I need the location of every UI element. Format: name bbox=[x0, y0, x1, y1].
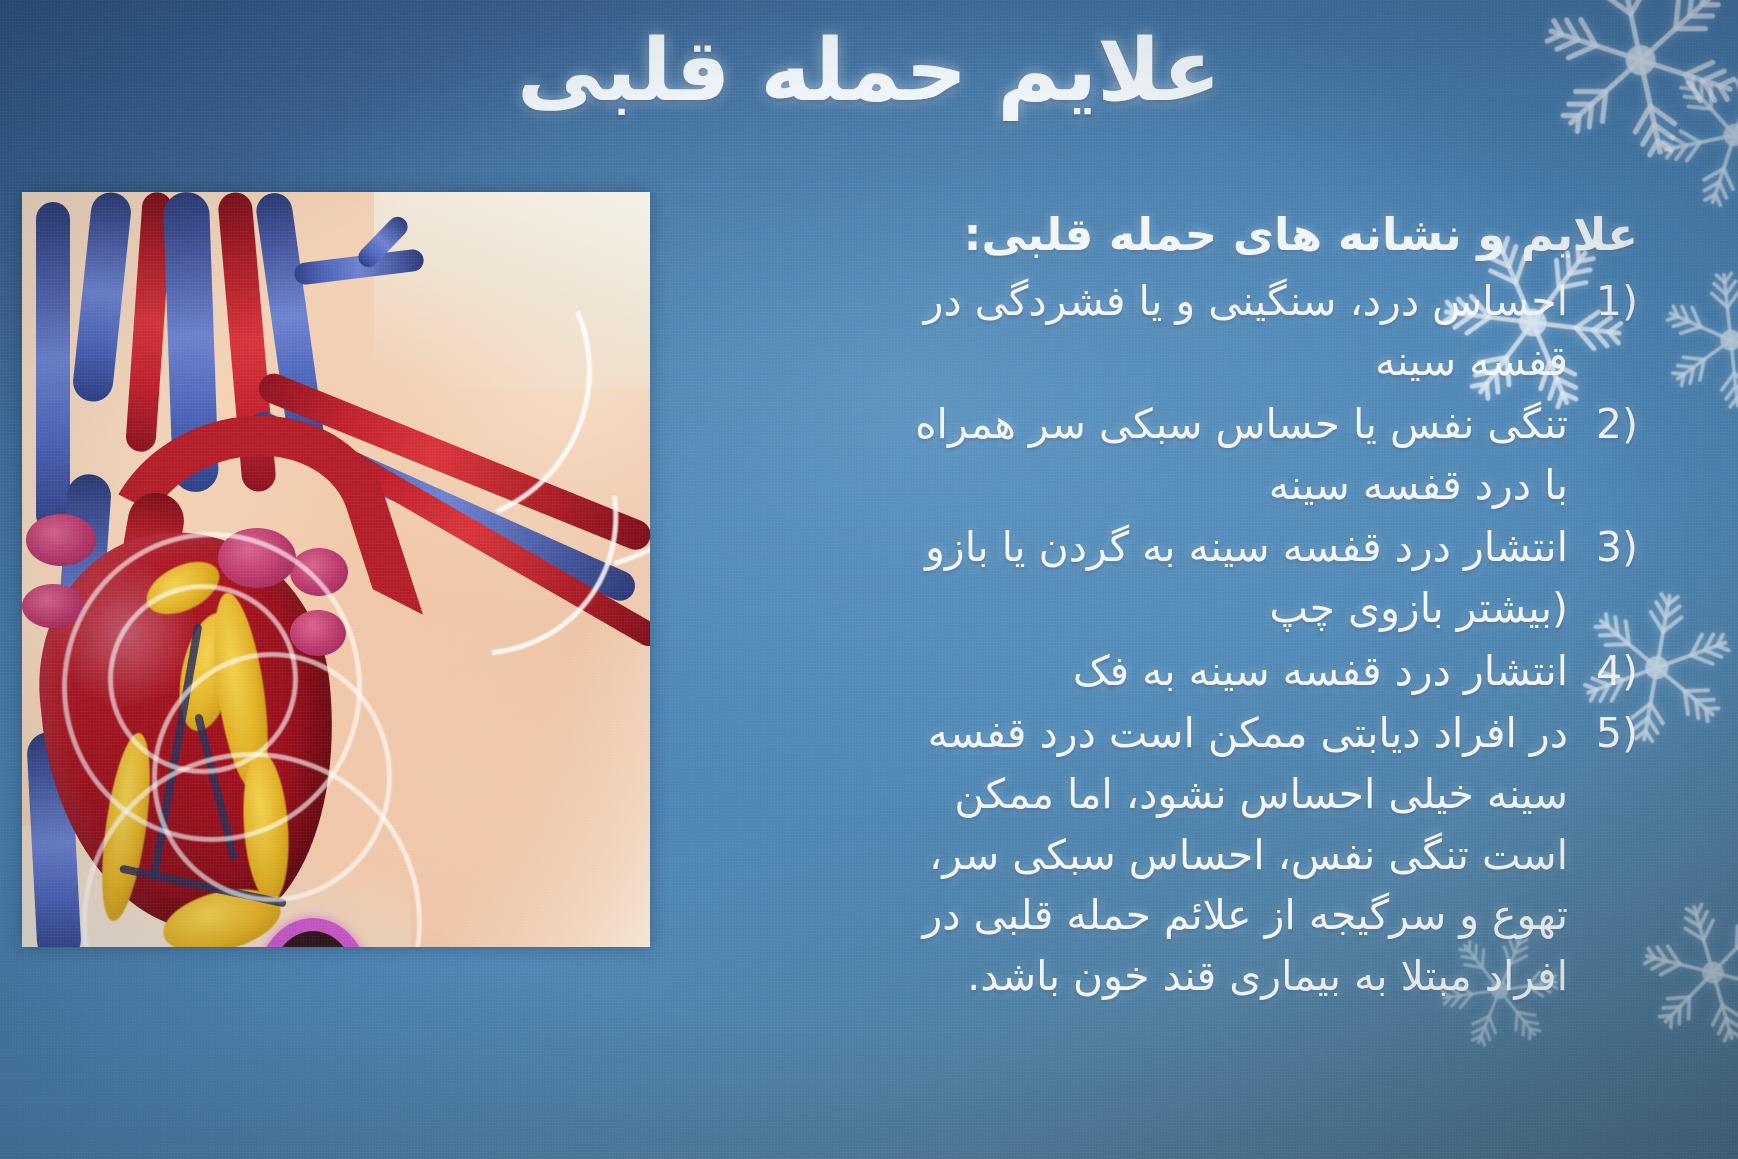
body-subheading: علایم و نشانه های حمله قلبی: bbox=[898, 206, 1638, 265]
list-item-number: 5) bbox=[1582, 703, 1638, 764]
presentation-slide: علایم حمله قلبی bbox=[0, 0, 1738, 1159]
list-item-number: 2) bbox=[1582, 394, 1638, 455]
symptoms-list: 1)احساس درد، سنگینی و یا فشردگی در قفسه … bbox=[898, 271, 1638, 1007]
list-item-label: احساس درد، سنگینی و یا فشردگی در قفسه سی… bbox=[898, 271, 1568, 392]
list-item: 5)در افراد دیابتی ممکن است درد قفسه سینه… bbox=[898, 703, 1638, 1006]
list-item-number: 3) bbox=[1582, 517, 1638, 578]
page-title: علایم حمله قلبی bbox=[0, 18, 1738, 126]
snowflake-right-2-icon bbox=[1637, 248, 1738, 436]
list-item: 2)تنگی نفس یا حساس سبکی سر همراه با درد … bbox=[898, 394, 1638, 515]
slide-body-text: علایم و نشانه های حمله قلبی: 1)احساس درد… bbox=[898, 206, 1638, 1009]
snowflake-right-4-icon bbox=[1624, 885, 1738, 1065]
list-item: 3)انتشار درد قفسه سینه به گردن یا بازو (… bbox=[898, 517, 1638, 638]
list-item-label: در افراد دیابتی ممکن است درد قفسه سینه خ… bbox=[898, 703, 1568, 1006]
list-item-label: انتشار درد قفسه سینه به فک bbox=[898, 641, 1568, 702]
list-item-number: 1) bbox=[1582, 271, 1638, 332]
pulmonary-stump-left bbox=[26, 514, 96, 566]
heart-anatomy-image bbox=[22, 192, 650, 947]
list-item-number: 4) bbox=[1582, 641, 1638, 702]
list-item: 4)انتشار درد قفسه سینه به فک bbox=[898, 641, 1638, 702]
list-item-label: انتشار درد قفسه سینه به گردن یا بازو (بی… bbox=[898, 517, 1568, 638]
vein-jugular-left bbox=[36, 202, 70, 532]
list-item-label: تنگی نفس یا حساس سبکی سر همراه با درد قف… bbox=[898, 394, 1568, 515]
list-item: 1)احساس درد، سنگینی و یا فشردگی در قفسه … bbox=[898, 271, 1638, 392]
